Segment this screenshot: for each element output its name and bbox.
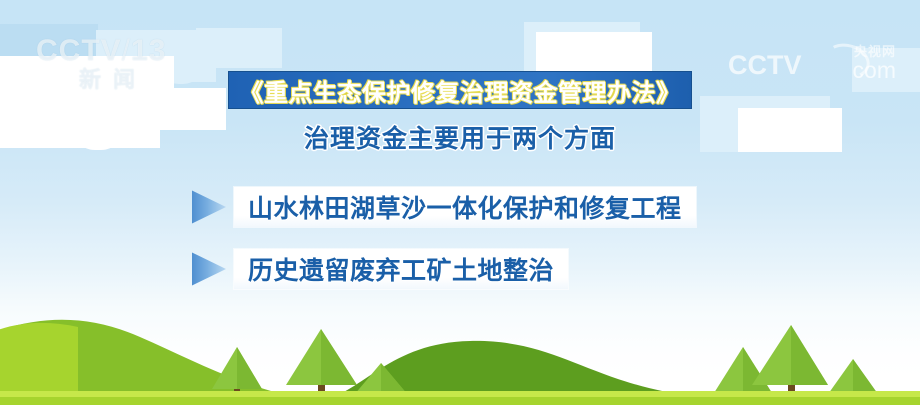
slide-title-text: 《重点生态保护修复治理资金管理办法》 — [240, 73, 681, 108]
ground-strip-main — [0, 397, 920, 405]
triangle-arrow-icon — [192, 251, 226, 287]
slide-title-banner: 《重点生态保护修复治理资金管理办法》 — [228, 71, 692, 109]
tree-canopy-shade — [237, 347, 262, 389]
ground-strip-light — [0, 391, 920, 397]
tree-canopy-shade — [791, 325, 828, 385]
broadcast-slide: CCTV/13 新闻 CCTV 央视网 com 《重点生态保护修复治理资金管理办… — [0, 0, 920, 405]
landscape-illustration — [0, 285, 920, 405]
cctvcom-brand-text: CCTV — [728, 50, 802, 81]
bullet-item-1: 山水林田湖草沙一体化保护和修复工程 — [192, 187, 696, 227]
bullet-item-2: 历史遗留废弃工矿土地整治 — [192, 249, 568, 289]
tree-canopy-shade — [321, 329, 357, 385]
slide-subtitle: 治理资金主要用于两个方面 — [0, 119, 920, 155]
bullet-label-1: 山水林田湖草沙一体化保护和修复工程 — [248, 189, 682, 225]
slide-subtitle-text: 治理资金主要用于两个方面 — [304, 125, 616, 153]
bullet-panel-1: 山水林田湖草沙一体化保护和修复工程 — [234, 187, 696, 227]
triangle-arrow-icon — [192, 189, 226, 225]
cloud-pale-mid — [196, 28, 282, 68]
bullet-label-2: 历史遗留废弃工矿土地整治 — [248, 251, 554, 287]
bullet-panel-2: 历史遗留废弃工矿土地整治 — [234, 249, 568, 289]
cloud-pale-far-right — [852, 48, 920, 92]
